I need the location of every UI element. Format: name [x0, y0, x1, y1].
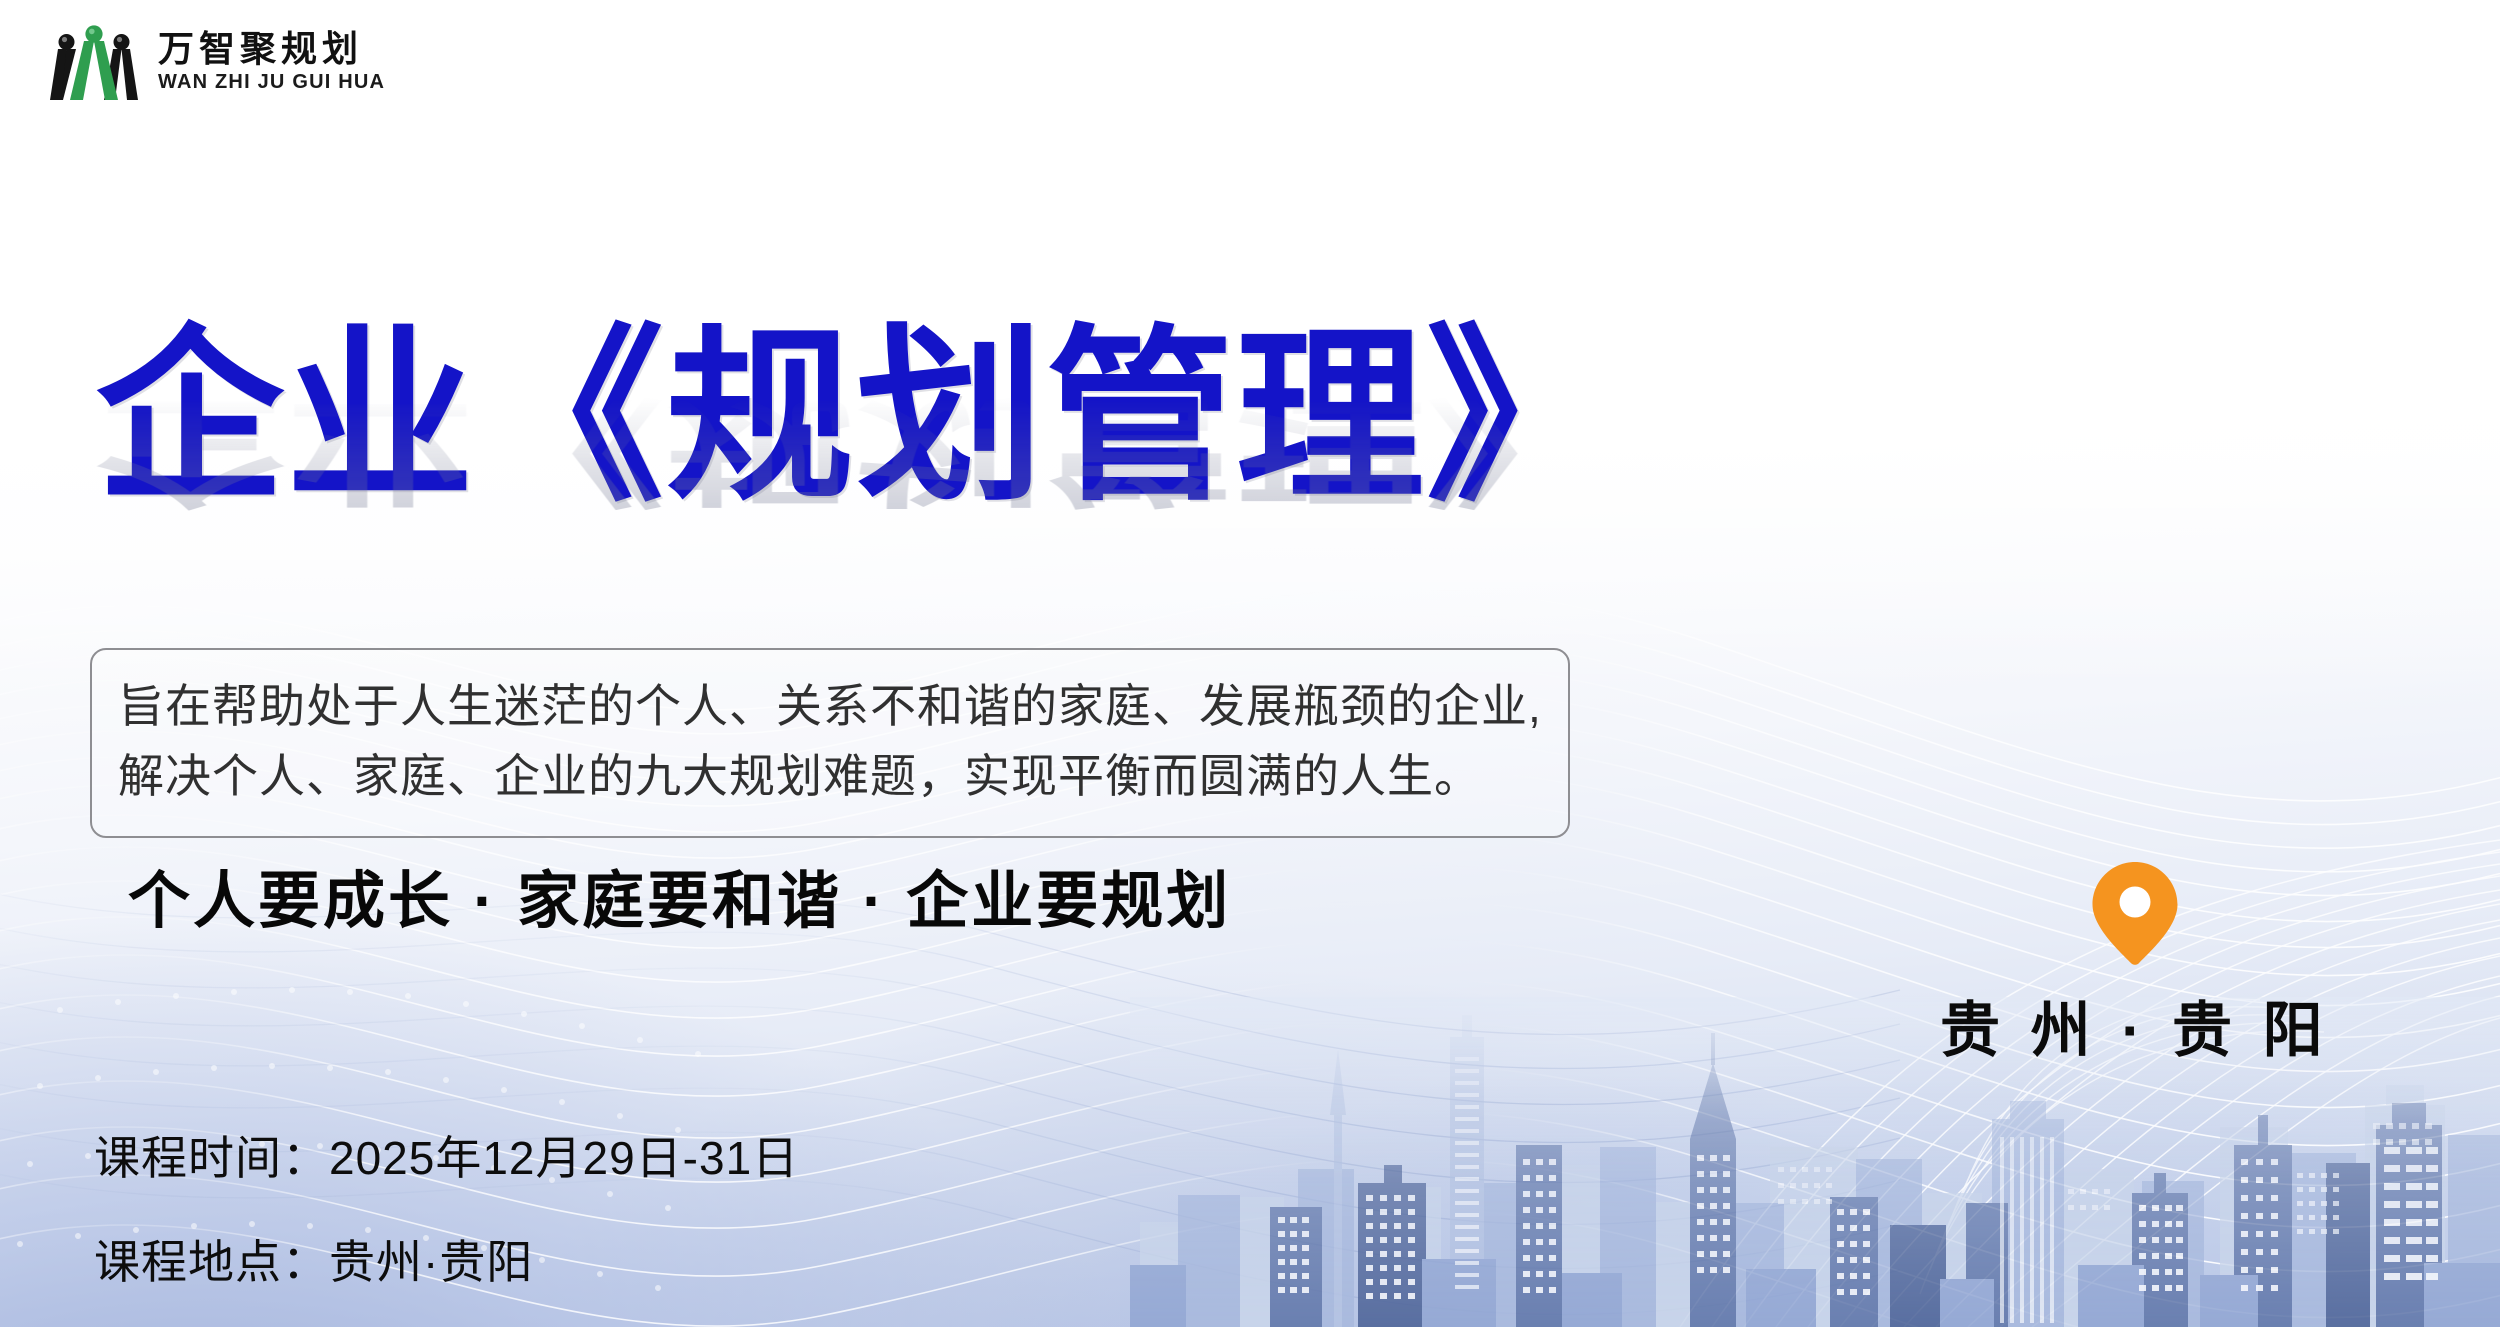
course-place: 课程地点：贵州·贵阳 [94, 1226, 799, 1292]
tagline: 个人要成长 · 家庭要和谐 · 企业要规划 [128, 850, 1231, 940]
description-line-1: 旨在帮助处于人生迷茫的个人、关系不和谐的家庭、发展瓶颈的企业, [118, 672, 1542, 742]
brand-name-cn: 万智聚规划 [158, 31, 385, 67]
description-line-2: 解决个人、家庭、企业的九大规划难题，实现平衡而圆满的人生。 [118, 742, 1542, 812]
course-time: 课程时间：2025年12月29日-31日 [94, 1122, 799, 1188]
description-box: 旨在帮助处于人生迷茫的个人、关系不和谐的家庭、发展瓶颈的企业, 解决个人、家庭、… [90, 648, 1570, 838]
location-block: 贵 州 · 贵 阳 [1940, 860, 2330, 1069]
location-city-label: 贵 州 · 贵 阳 [1940, 982, 2330, 1069]
brand-logo[interactable]: 万智聚规划 WAN ZHI JU GUI HUA [46, 18, 385, 104]
brand-text: 万智聚规划 WAN ZHI JU GUI HUA [158, 31, 385, 92]
map-pin-icon [2087, 860, 2183, 966]
page-title-reflection: 企业《规划管理》 [96, 388, 1616, 512]
three-people-logo-icon [46, 18, 142, 104]
poster-canvas: 万智聚规划 WAN ZHI JU GUI HUA 企业《规划管理》 企业《规划管… [0, 0, 2500, 1327]
brand-name-pinyin: WAN ZHI JU GUI HUA [158, 72, 385, 92]
course-details: 课程时间：2025年12月29日-31日 课程地点：贵州·贵阳 [94, 1122, 799, 1292]
